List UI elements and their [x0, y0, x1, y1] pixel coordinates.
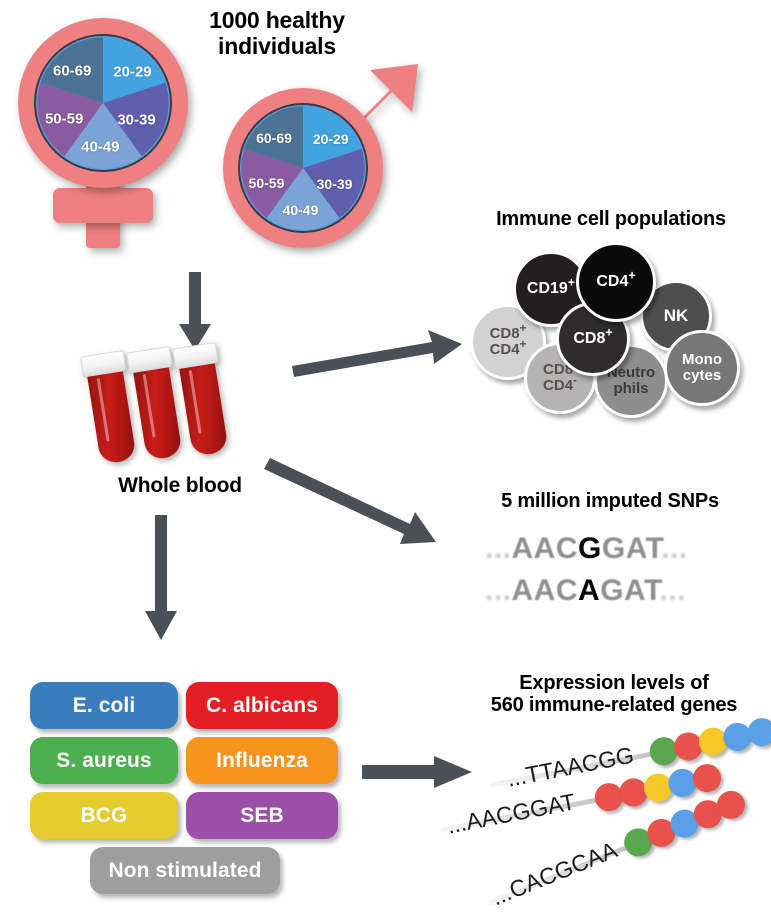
whole-blood-label: Whole blood — [85, 474, 275, 498]
snp-allele-2-suffix: ... — [659, 574, 686, 607]
female-age-pie-chart: 20-29 30-39 40-49 50-59 60-69 — [34, 34, 172, 172]
immune-cell-cd8-cd4-positive-label: CD8+ CD4+ — [490, 326, 527, 357]
whole-blood-tubes — [95, 340, 275, 465]
female-pie-label-40-49: 40-49 — [81, 139, 119, 156]
snp-allele-1-suffix: ... — [661, 532, 688, 565]
male-pie-label-20-29: 20-29 — [313, 131, 349, 147]
strand-bottom-sequence: ...CACGCAA — [488, 836, 621, 911]
male-age-pie-chart: 20-29 30-39 40-49 50-59 60-69 — [238, 103, 368, 233]
figure-canvas: 1000 healthy individuals 20-29 30-39 40-… — [0, 0, 771, 922]
female-pie-label-20-29: 20-29 — [113, 64, 151, 81]
blood-tube-1-body — [86, 364, 137, 464]
immune-cell-cd8-label: CD8+ — [573, 331, 612, 348]
stimulus-s-aureus[interactable]: S. aureus — [30, 737, 178, 784]
stimulus-influenza[interactable]: Influenza — [186, 737, 338, 784]
arrow-blood-to-immune-cells — [292, 330, 462, 372]
snp-allele-1-right: GAT — [602, 532, 661, 565]
immune-cell-cd4-label: CD4+ — [596, 274, 635, 291]
stimulus-influenza-label: Influenza — [216, 749, 308, 773]
female-pie-label-30-39: 30-39 — [117, 112, 155, 129]
male-pie-label-60-69: 60-69 — [256, 130, 292, 146]
arrow-cohort-to-blood — [175, 272, 215, 350]
snp-allele-2-variant: A — [578, 574, 600, 607]
male-gender-symbol: 20-29 30-39 40-49 50-59 60-69 — [205, 60, 420, 260]
female-symbol-stem-horizontal — [53, 188, 153, 223]
snp-allele-1-left: AAC — [512, 532, 579, 565]
stimulus-c-albicans[interactable]: C. albicans — [186, 682, 338, 729]
male-pie-label-40-49: 40-49 — [283, 202, 319, 218]
male-pie-label-30-39: 30-39 — [317, 176, 353, 192]
snp-sequences: ...AACGGAT... ...AACAGAT... — [485, 528, 750, 620]
immune-cell-monocytes-label: Monocytes — [682, 352, 722, 383]
blood-tube-3 — [176, 343, 229, 457]
immune-cell-monocytes: Monocytes — [664, 330, 740, 406]
snp-allele-2-right: GAT — [600, 574, 659, 607]
snps-heading: 5 million imputed SNPs — [460, 490, 760, 512]
stimulus-seb-label: SEB — [240, 804, 283, 828]
stimulus-non-stimulated-label: Non stimulated — [108, 859, 261, 883]
arrow-blood-to-stimuli — [140, 515, 182, 640]
immune-cell-neutrophils-label: Neutrophils — [607, 365, 655, 396]
blood-tube-3-body — [178, 356, 229, 456]
stimuli-panel: E. coli C. albicans S. aureus Influenza … — [30, 682, 340, 892]
stimulus-e-coli-label: E. coli — [73, 694, 136, 718]
stimulus-s-aureus-label: S. aureus — [56, 749, 151, 773]
expression-heading: Expression levels of 560 immune-related … — [460, 672, 768, 717]
stimulus-bcg-label: BCG — [81, 804, 128, 828]
immune-cell-nk-label: NK — [664, 307, 689, 325]
snp-allele-2-prefix: ... — [485, 574, 512, 607]
stimulus-c-albicans-label: C. albicans — [206, 694, 318, 718]
female-pie-label-50-59: 50-59 — [45, 111, 83, 128]
snp-allele-1-variant: G — [578, 532, 602, 565]
snp-allele-2-left: AAC — [512, 574, 579, 607]
stimulus-e-coli[interactable]: E. coli — [30, 682, 178, 729]
immune-cell-cd19-label: CD19+ — [527, 281, 575, 298]
stimulus-seb[interactable]: SEB — [186, 792, 338, 839]
female-gender-symbol: 20-29 30-39 40-49 50-59 60-69 — [8, 8, 198, 258]
immune-cell-cd4: CD4+ — [576, 242, 656, 322]
stimulus-bcg[interactable]: BCG — [30, 792, 178, 839]
snp-allele-1-prefix: ... — [485, 532, 512, 565]
snp-allele-2: ...AACAGAT... — [485, 574, 686, 608]
stimulus-non-stimulated[interactable]: Non stimulated — [90, 847, 280, 894]
immune-cell-cluster: CD19+ CD4+ NK CD8+ CD4+ CD8+ CD8- CD4- N… — [468, 242, 758, 420]
snp-allele-1: ...AACGGAT... — [485, 532, 688, 566]
expression-heading-line-1: Expression levels of — [460, 672, 768, 694]
blood-tube-2-body — [132, 360, 183, 460]
expression-heading-line-2: 560 immune-related genes — [460, 694, 768, 716]
arrow-blood-to-snps — [270, 458, 450, 550]
gene-expression-strands: ...TTAACGG ...AACGGAT ...CACGCAA — [440, 740, 771, 915]
strand-middle-bead-5 — [691, 762, 724, 795]
female-pie-label-60-69: 60-69 — [53, 62, 91, 79]
immune-cells-heading: Immune cell populations — [455, 208, 767, 230]
male-pie-label-50-59: 50-59 — [249, 175, 285, 191]
cohort-heading-line-1: 1000 healthy — [172, 8, 382, 34]
